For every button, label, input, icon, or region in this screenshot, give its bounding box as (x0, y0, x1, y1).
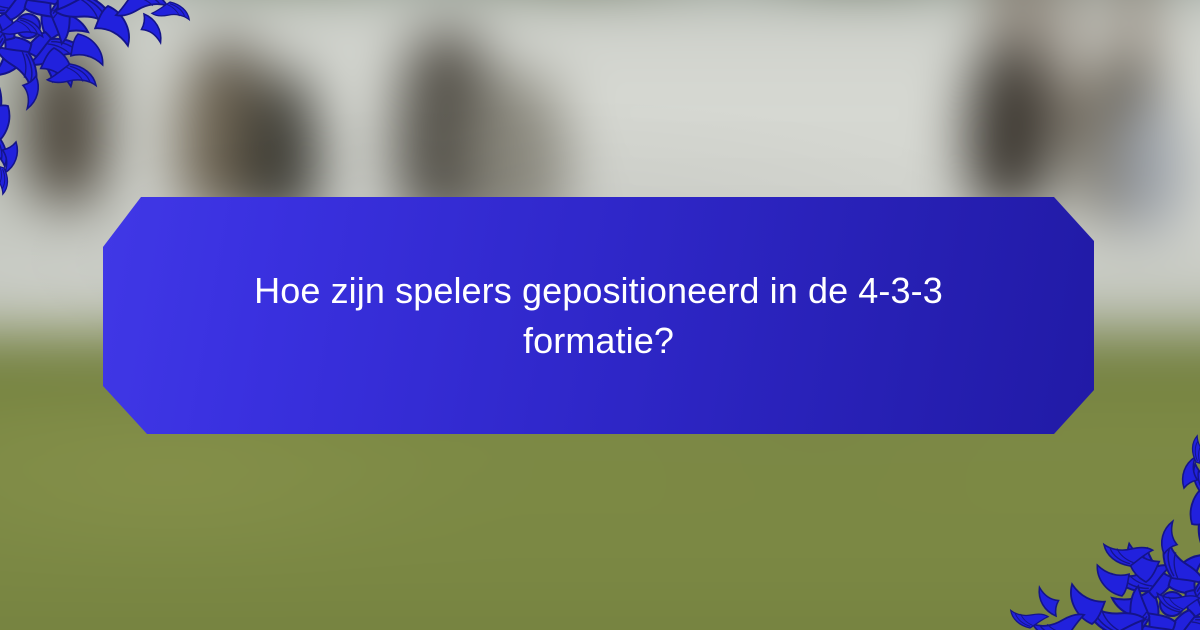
headline-banner: Hoe zijn spelers gepositioneerd in de 4-… (103, 197, 1094, 434)
share-card: Hoe zijn spelers gepositioneerd in de 4-… (0, 0, 1200, 630)
headline-text: Hoe zijn spelers gepositioneerd in de 4-… (229, 266, 969, 366)
